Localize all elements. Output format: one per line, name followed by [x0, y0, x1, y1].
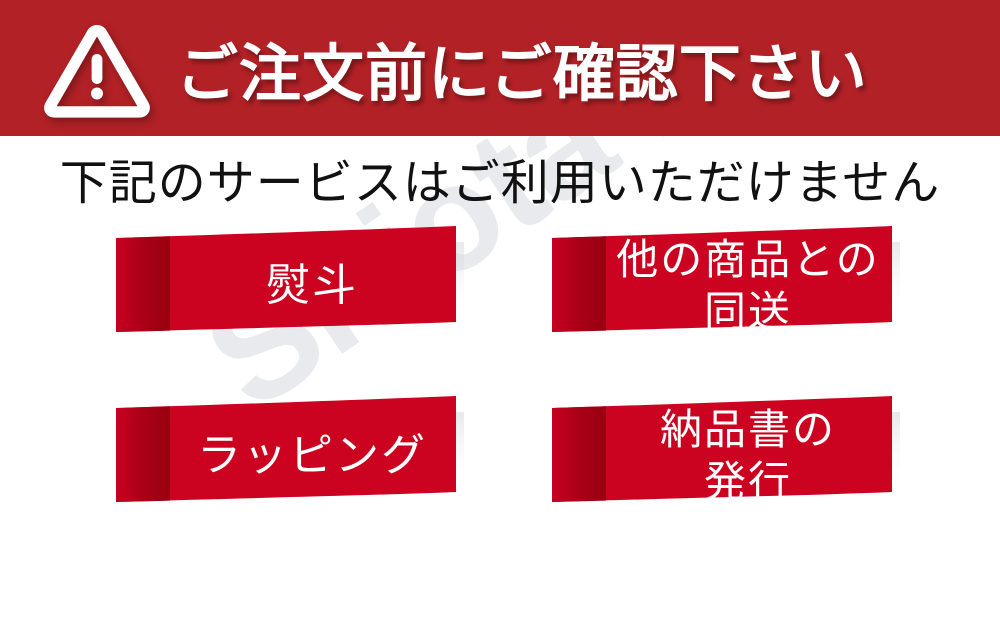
subtitle-text: 下記のサービスはご利用いただけません: [60, 143, 941, 213]
warning-triangle-icon: [38, 18, 156, 118]
service-ribbon-invoice-issue: 納品書の 発行: [540, 392, 910, 520]
header-band: ご注文前にご確認下さい: [0, 0, 1000, 136]
notice-banner-page: Shiota Pa ご注文前にご確認下さい 下記のサービスはご利用いただけません: [0, 0, 1000, 618]
service-ribbon-combined-shipping: 他の商品との 同送: [540, 222, 910, 350]
service-ribbon-noshi: 熨斗: [104, 222, 474, 350]
service-ribbon-wrapping: ラッピング: [104, 392, 474, 520]
page-title: ご注文前にご確認下さい: [176, 23, 868, 113]
subtitle-row: 下記のサービスはご利用いただけません: [0, 136, 1000, 220]
